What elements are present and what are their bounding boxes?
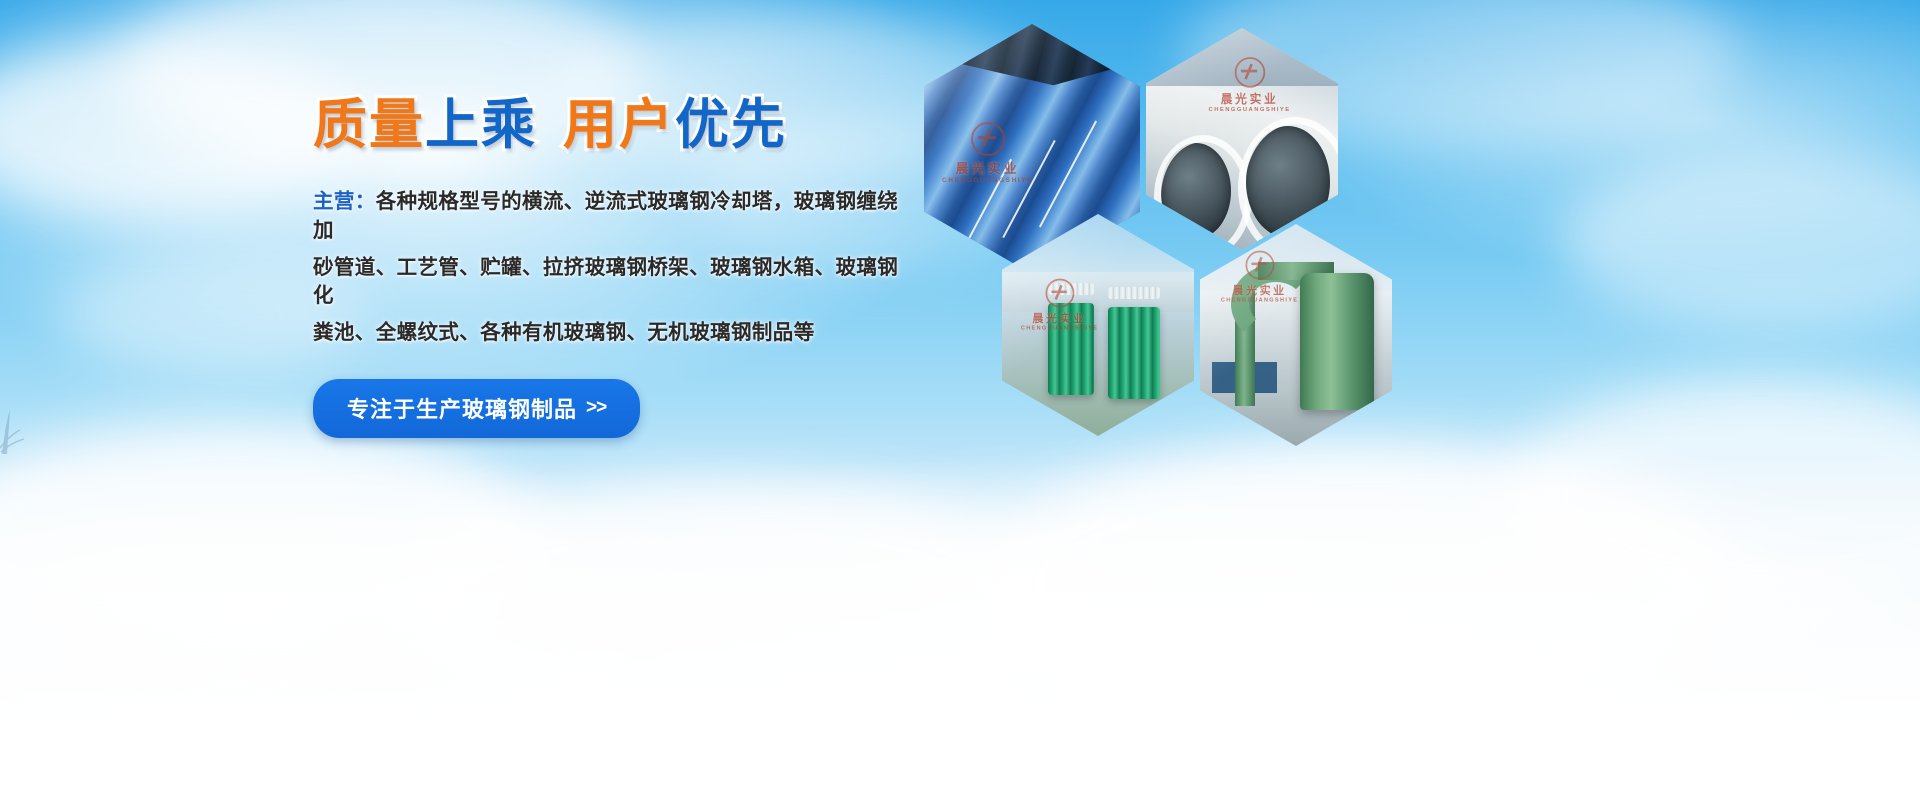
cloud-shape [0,40,360,220]
description-line-2: 砂管道、工艺管、贮罐、拉挤玻璃钢桥架、玻璃钢水箱、玻璃钢化 [313,254,913,311]
product-photo-scrubber-tower[interactable]: 晨光实业 CHENGGUANGSHIYE [1200,224,1392,446]
description-line-1: 主营：各种规格型号的横流、逆流式玻璃钢冷却塔，玻璃钢缠绕加 [313,188,913,245]
photo-gloss [1146,28,1338,250]
description-line-3: 粪池、全螺纹式、各种有机玻璃钢、无机玻璃钢制品等 [313,319,913,347]
banner-description: 主营：各种规格型号的横流、逆流式玻璃钢冷却塔，玻璃钢缠绕加 砂管道、工艺管、贮罐… [313,188,913,347]
headline-part-1: 质量 [313,95,425,155]
focus-on-frp-products-button[interactable]: 专注于生产玻璃钢制品 >> [313,379,640,438]
product-photo-cluster: 晨光实业 CHENGGUANGSHIYE 晨光实业 CHENGGUANGSHIY… [922,18,1422,408]
photo-gloss [1200,224,1392,446]
cta-label: 专注于生产玻璃钢制品 [347,392,577,424]
description-line-1-text: 各种规格型号的横流、逆流式玻璃钢冷却塔，玻璃钢缠绕加 [313,190,898,241]
headline-part-2: 上乘 [425,95,537,155]
product-photo-large-diameter-pipes[interactable]: 晨光实业 CHENGGUANGSHIYE [1146,28,1338,250]
banner-copy: 质量上乘用户优先 主营：各种规格型号的横流、逆流式玻璃钢冷却塔，玻璃钢缠绕加 砂… [313,96,933,438]
palm-frond-icon [0,408,26,454]
headline-part-3: 用户 [563,95,675,155]
banner-headline: 质量上乘用户优先 [313,96,933,154]
horizon-haze [0,459,1920,789]
headline-part-4: 优先 [675,95,787,155]
promo-banner: 质量上乘用户优先 主营：各种规格型号的横流、逆流式玻璃钢冷却塔，玻璃钢缠绕加 砂… [0,0,1920,789]
description-lead-label: 主营： [313,190,376,213]
double-chevron-right-icon: >> [586,397,606,419]
cloud-shape [1560,150,1920,330]
